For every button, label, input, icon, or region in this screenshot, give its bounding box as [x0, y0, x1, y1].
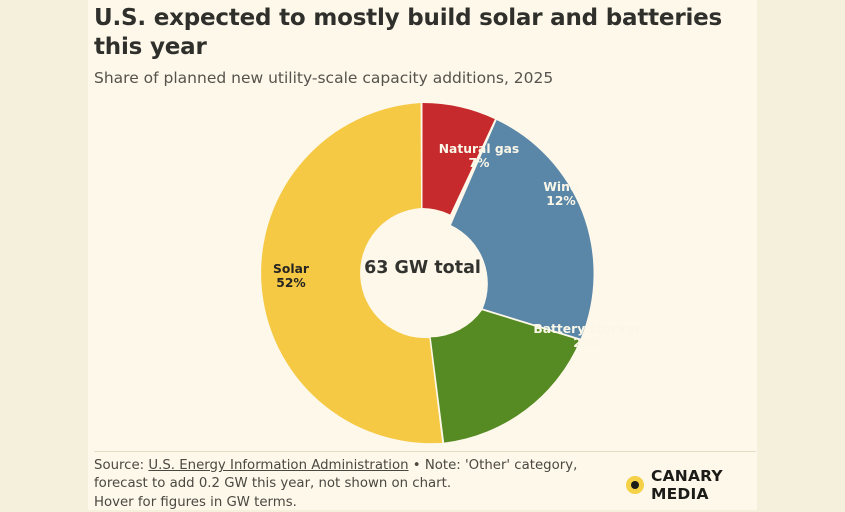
slice-label-wind-pct: 12%	[526, 194, 596, 208]
slice-label-natural-gas-name: Natural gas	[439, 142, 520, 156]
chart-card: U.S. expected to mostly build solar and …	[88, 0, 757, 510]
slice-label-battery-storage-name: Battery storage	[533, 322, 642, 336]
canary-dot-icon	[626, 476, 644, 494]
donut-chart: 63 GW total Natural gas 7% Wind 12% Batt…	[88, 95, 757, 445]
brand-name: CANARY MEDIA	[651, 467, 757, 503]
source-link[interactable]: U.S. Energy Information Administration	[148, 458, 408, 473]
chart-page: U.S. expected to mostly build solar and …	[0, 0, 845, 510]
page-title: U.S. expected to mostly build solar and …	[94, 4, 758, 62]
slice-label-natural-gas: Natural gas 7%	[429, 142, 529, 170]
slice-label-solar-name: Solar	[273, 262, 309, 276]
slice-label-solar: Solar 52%	[246, 262, 336, 290]
footer-note: Source: U.S. Energy Information Administ…	[94, 457, 624, 512]
canary-media-logo: CANARY MEDIA	[626, 467, 757, 503]
slice-label-natural-gas-pct: 7%	[429, 156, 529, 170]
slice-label-wind: Wind 12%	[526, 180, 596, 208]
footer-divider	[94, 451, 756, 452]
page-subtitle: Share of planned new utility-scale capac…	[94, 68, 758, 88]
slice-label-battery-storage-pct: 29%	[498, 336, 678, 350]
slice-label-battery-storage: Battery storage 29%	[498, 322, 678, 350]
center-total-label: 63 GW total	[88, 258, 757, 278]
slice-label-solar-pct: 52%	[246, 276, 336, 290]
source-prefix: Source:	[94, 458, 148, 473]
slice-label-wind-name: Wind	[543, 180, 578, 194]
hover-hint: Hover for figures in GW terms.	[94, 494, 624, 512]
